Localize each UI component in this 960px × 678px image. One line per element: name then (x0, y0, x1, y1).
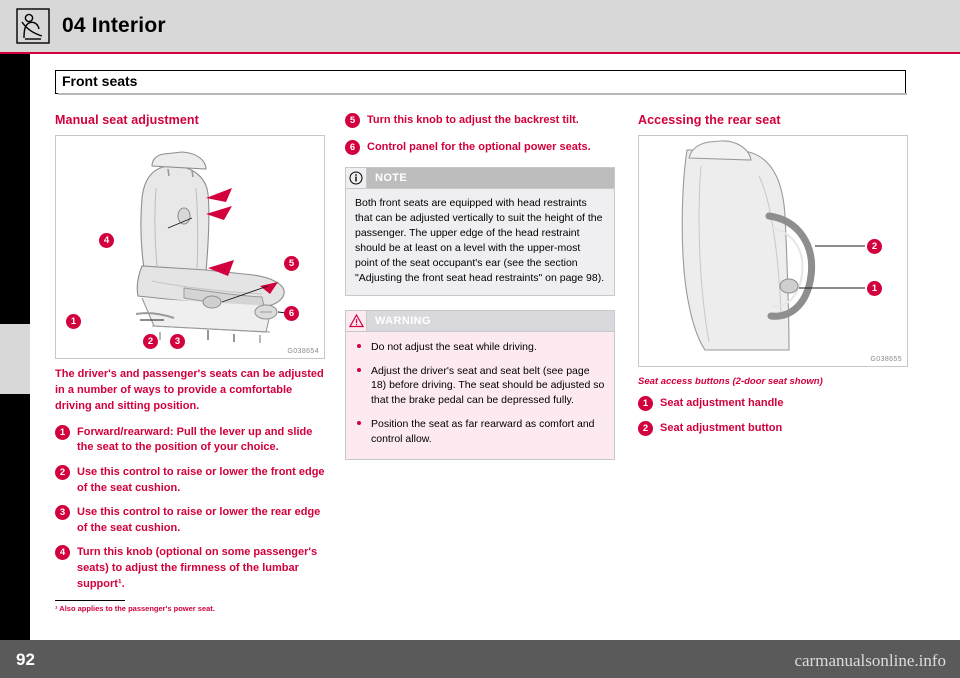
section-title-shadow (58, 93, 907, 95)
list-number: 5 (345, 113, 360, 128)
footnote-rule (55, 600, 125, 601)
warning-box: WARNING Do not adjust the seat while dri… (345, 310, 615, 460)
list-text: Control panel for the optional power sea… (367, 140, 615, 156)
figure-callout-5: 5 (284, 256, 299, 271)
watermark: carmanualsonline.info (794, 651, 946, 671)
figure-callout-2: 2 (867, 239, 882, 254)
list-text: Turn this knob to adjust the backrest ti… (367, 113, 615, 129)
bullet-dot (357, 368, 361, 372)
manual-seat-adjustment-heading: Manual seat adjustment (55, 113, 325, 127)
list-number: 6 (345, 140, 360, 155)
warning-bullet: Do not adjust the seat while driving. (355, 340, 605, 355)
list-item: 6 Control panel for the optional power s… (345, 140, 615, 156)
list-item: 1 Seat adjustment handle (638, 396, 908, 412)
note-body: Both front seats are equipped with head … (346, 189, 614, 294)
page-header: 04 Interior (0, 0, 960, 54)
list-item: 3 Use this control to raise or lower the… (55, 505, 325, 536)
warning-triangle-icon (346, 311, 367, 331)
list-text: Turn this knob (optional on some passeng… (77, 545, 325, 592)
warning-bullet-text: Adjust the driver's seat and seat belt (… (371, 365, 604, 407)
page-number: 92 (16, 650, 35, 670)
list-number: 2 (638, 421, 653, 436)
list-number: 4 (55, 545, 70, 560)
bullet-dot (357, 421, 361, 425)
warning-body: Do not adjust the seat while driving. Ad… (346, 332, 614, 459)
section-title: Front seats (62, 73, 137, 89)
list-item: 4 Turn this knob (optional on some passe… (55, 545, 325, 592)
list-text: Forward/rearward: Pull the lever up and … (77, 425, 325, 456)
figure-callout-4: 4 (99, 233, 114, 248)
header-accent-rule (0, 52, 960, 54)
column-middle: 5 Turn this knob to adjust the backrest … (345, 113, 615, 460)
list-number: 3 (55, 505, 70, 520)
figure-code: G038655 (870, 356, 902, 363)
figure-callout-1: 1 (867, 281, 882, 296)
figure-callout-1: 1 (66, 314, 81, 329)
seat-belt-icon (16, 8, 50, 44)
warning-bullet-text: Do not adjust the seat while driving. (371, 341, 537, 353)
warning-bullet: Position the seat as far rearward as com… (355, 417, 605, 447)
column-right: Accessing the rear seat 2 1 G038655 Seat… (638, 113, 908, 445)
note-header: NOTE (346, 168, 614, 189)
list-item: 1 Forward/rearward: Pull the lever up an… (55, 425, 325, 456)
page-title: 04 Interior (62, 14, 166, 38)
list-item: 2 Seat adjustment button (638, 421, 908, 437)
list-number: 2 (55, 465, 70, 480)
bullet-dot (357, 344, 361, 348)
section-title-box (55, 70, 906, 94)
list-text: Seat adjustment handle (660, 396, 908, 412)
front-seat-figure: 1 2 3 4 5 6 G038654 (55, 135, 325, 359)
list-text: Use this control to raise or lower the r… (77, 505, 325, 536)
list-text: Use this control to raise or lower the f… (77, 465, 325, 496)
accessing-rear-seat-heading: Accessing the rear seat (638, 113, 908, 127)
rear-seat-access-illustration (639, 136, 907, 366)
figure-caption: Seat access buttons (2-door seat shown) (638, 376, 908, 387)
info-icon (346, 168, 367, 188)
chapter-number: 04 (5, 282, 21, 298)
list-number: 1 (638, 396, 653, 411)
list-item: 2 Use this control to raise or lower the… (55, 465, 325, 496)
figure-callout-6: 6 (284, 306, 299, 321)
rear-seat-access-figure: 2 1 G038655 (638, 135, 908, 367)
figure-callout-2: 2 (143, 334, 158, 349)
footnote-block: ¹ Also applies to the passenger's power … (55, 600, 325, 613)
manual-seat-intro-text: The driver's and passenger's seats can b… (55, 367, 325, 415)
warning-bullet: Adjust the driver's seat and seat belt (… (355, 364, 605, 409)
figure-callout-3: 3 (170, 334, 185, 349)
warning-header: WARNING (346, 311, 614, 332)
figure-code: G038654 (287, 348, 319, 355)
left-chapter-rail (0, 54, 30, 640)
list-number: 1 (55, 425, 70, 440)
list-item: 5 Turn this knob to adjust the backrest … (345, 113, 615, 129)
note-label: NOTE (367, 172, 407, 184)
warning-bullet-text: Position the seat as far rearward as com… (371, 418, 595, 445)
warning-label: WARNING (367, 315, 431, 327)
chapter-tab (0, 324, 30, 394)
watermark-text: carmanualsonline.info (794, 651, 946, 670)
note-box: NOTE Both front seats are equipped with … (345, 167, 615, 295)
list-text: Seat adjustment button (660, 421, 908, 437)
footnote-text: ¹ Also applies to the passenger's power … (55, 604, 325, 613)
column-left: Manual seat adjustment (55, 113, 325, 601)
front-seat-illustration (56, 136, 324, 358)
